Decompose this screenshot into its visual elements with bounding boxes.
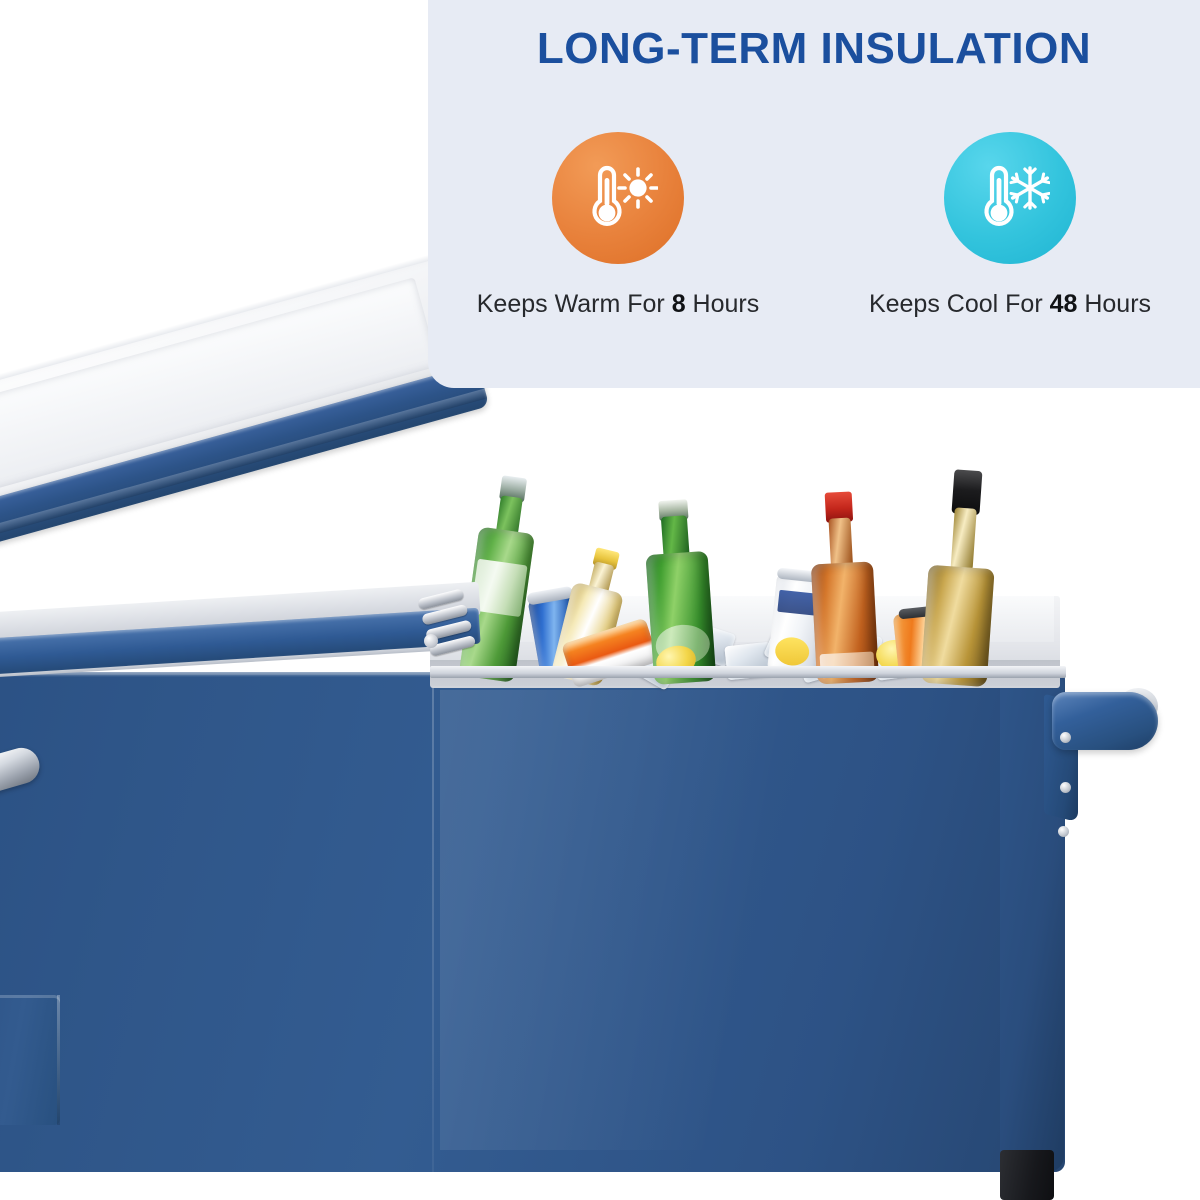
cool-badge: [944, 132, 1076, 264]
warm-suffix: Hours: [686, 290, 760, 318]
warm-prefix: Keeps Warm For: [477, 290, 672, 318]
cooler-front-gloss: [440, 690, 1000, 1150]
cooler-side-tray: [0, 995, 60, 1125]
feature-list: Keeps Warm For 8 Hours: [428, 132, 1200, 319]
cooler-leg: [1000, 1150, 1054, 1200]
cooler-front-rim: [430, 666, 1066, 678]
handle-bolt: [1060, 732, 1071, 743]
feature-keeps-warm: Keeps Warm For 8 Hours: [495, 132, 741, 319]
thermometer-sun-icon: [578, 163, 658, 233]
cool-hours: 48: [1050, 290, 1078, 318]
cool-prefix: Keeps Cool For: [869, 290, 1050, 318]
insulation-info-panel: LONG-TERM INSULATION: [428, 0, 1200, 388]
warm-badge: [552, 132, 684, 264]
panel-title: LONG-TERM INSULATION: [428, 24, 1200, 74]
warm-hours: 8: [672, 290, 686, 318]
cool-suffix: Hours: [1077, 290, 1151, 318]
cooler-side-handle[interactable]: [1044, 668, 1160, 818]
cooler-corner-fold: [432, 676, 434, 1172]
handle-bolt: [1060, 782, 1071, 793]
handle-bolt: [1058, 826, 1069, 837]
thermometer-snowflake-icon: [970, 163, 1050, 233]
feature-keeps-cool: Keeps Cool For 48 Hours: [887, 132, 1133, 319]
cool-label: Keeps Cool For 48 Hours: [869, 290, 1151, 319]
amber-liquor-bottle: [807, 487, 879, 685]
lid-hinge-pin: [424, 634, 438, 648]
warm-label: Keeps Warm For 8 Hours: [477, 290, 760, 319]
product-feature-graphic: LONG-TERM INSULATION: [0, 0, 1200, 1200]
